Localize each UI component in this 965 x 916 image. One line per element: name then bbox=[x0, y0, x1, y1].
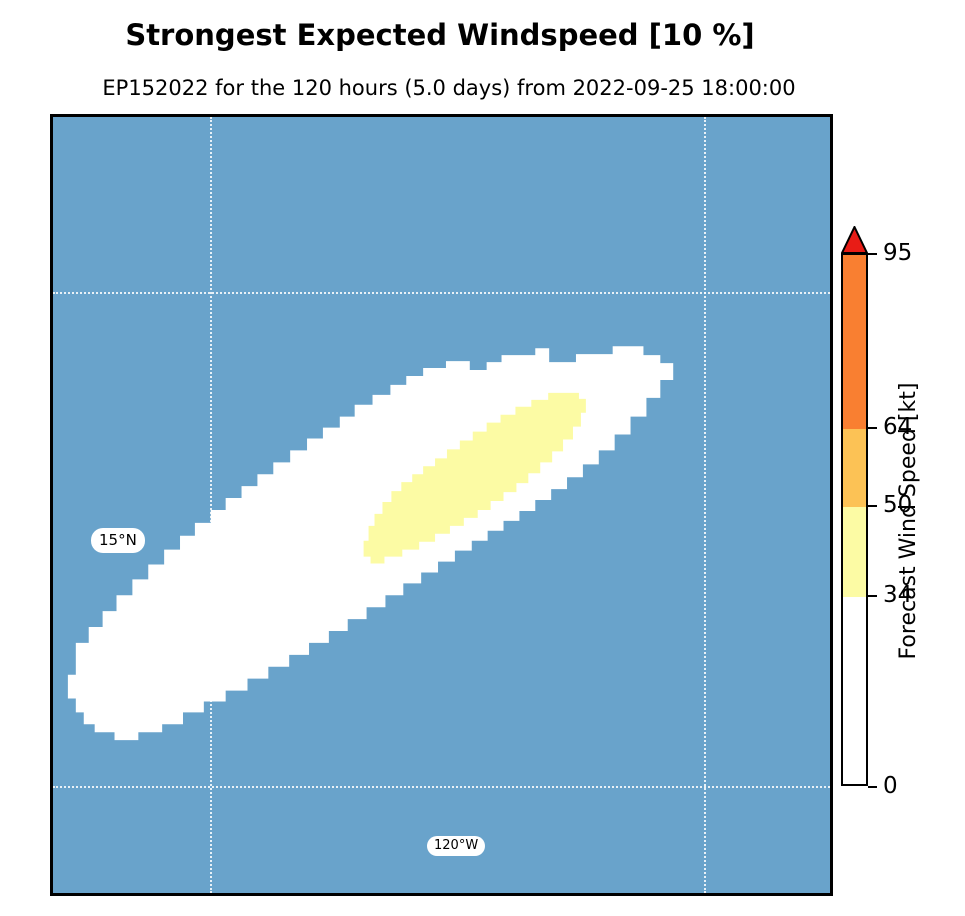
colorbar-extend-arrow-icon bbox=[841, 226, 868, 254]
graticule-label-longitude: 120°W bbox=[427, 836, 485, 856]
colorbar-segment-0-34 bbox=[843, 597, 866, 786]
colorbar-axis-label: Forecast Wind Speed [kt] bbox=[896, 371, 921, 671]
chart-subtitle: EP152022 for the 120 hours (5.0 days) fr… bbox=[0, 76, 898, 100]
wind-speed-contours bbox=[53, 117, 830, 893]
map-axes[interactable]: 15°N 120°W bbox=[50, 114, 833, 896]
colorbar-segment-64-95 bbox=[843, 255, 866, 429]
map-plot-area: 15°N 120°W bbox=[53, 117, 830, 893]
windspeed-forecast-figure: Strongest Expected Windspeed [10 %] EP15… bbox=[0, 0, 965, 916]
colorbar-segment-50-64 bbox=[843, 429, 866, 508]
colorbar-gradient-bar bbox=[841, 253, 868, 786]
page-title: Strongest Expected Windspeed [10 %] bbox=[0, 18, 880, 52]
colorbar-tick-95 bbox=[868, 253, 877, 255]
colorbar-ticklabel-0: 0 bbox=[883, 773, 898, 799]
colorbar-tick-34 bbox=[868, 595, 877, 597]
graticule-label-latitude: 15°N bbox=[91, 528, 145, 553]
colorbar-tick-0 bbox=[868, 786, 877, 788]
colorbar-tick-50 bbox=[868, 505, 877, 507]
colorbar-ticklabel-95: 95 bbox=[883, 240, 912, 266]
colorbar-segment-34-50 bbox=[843, 507, 866, 597]
colorbar-tick-64 bbox=[868, 427, 877, 429]
